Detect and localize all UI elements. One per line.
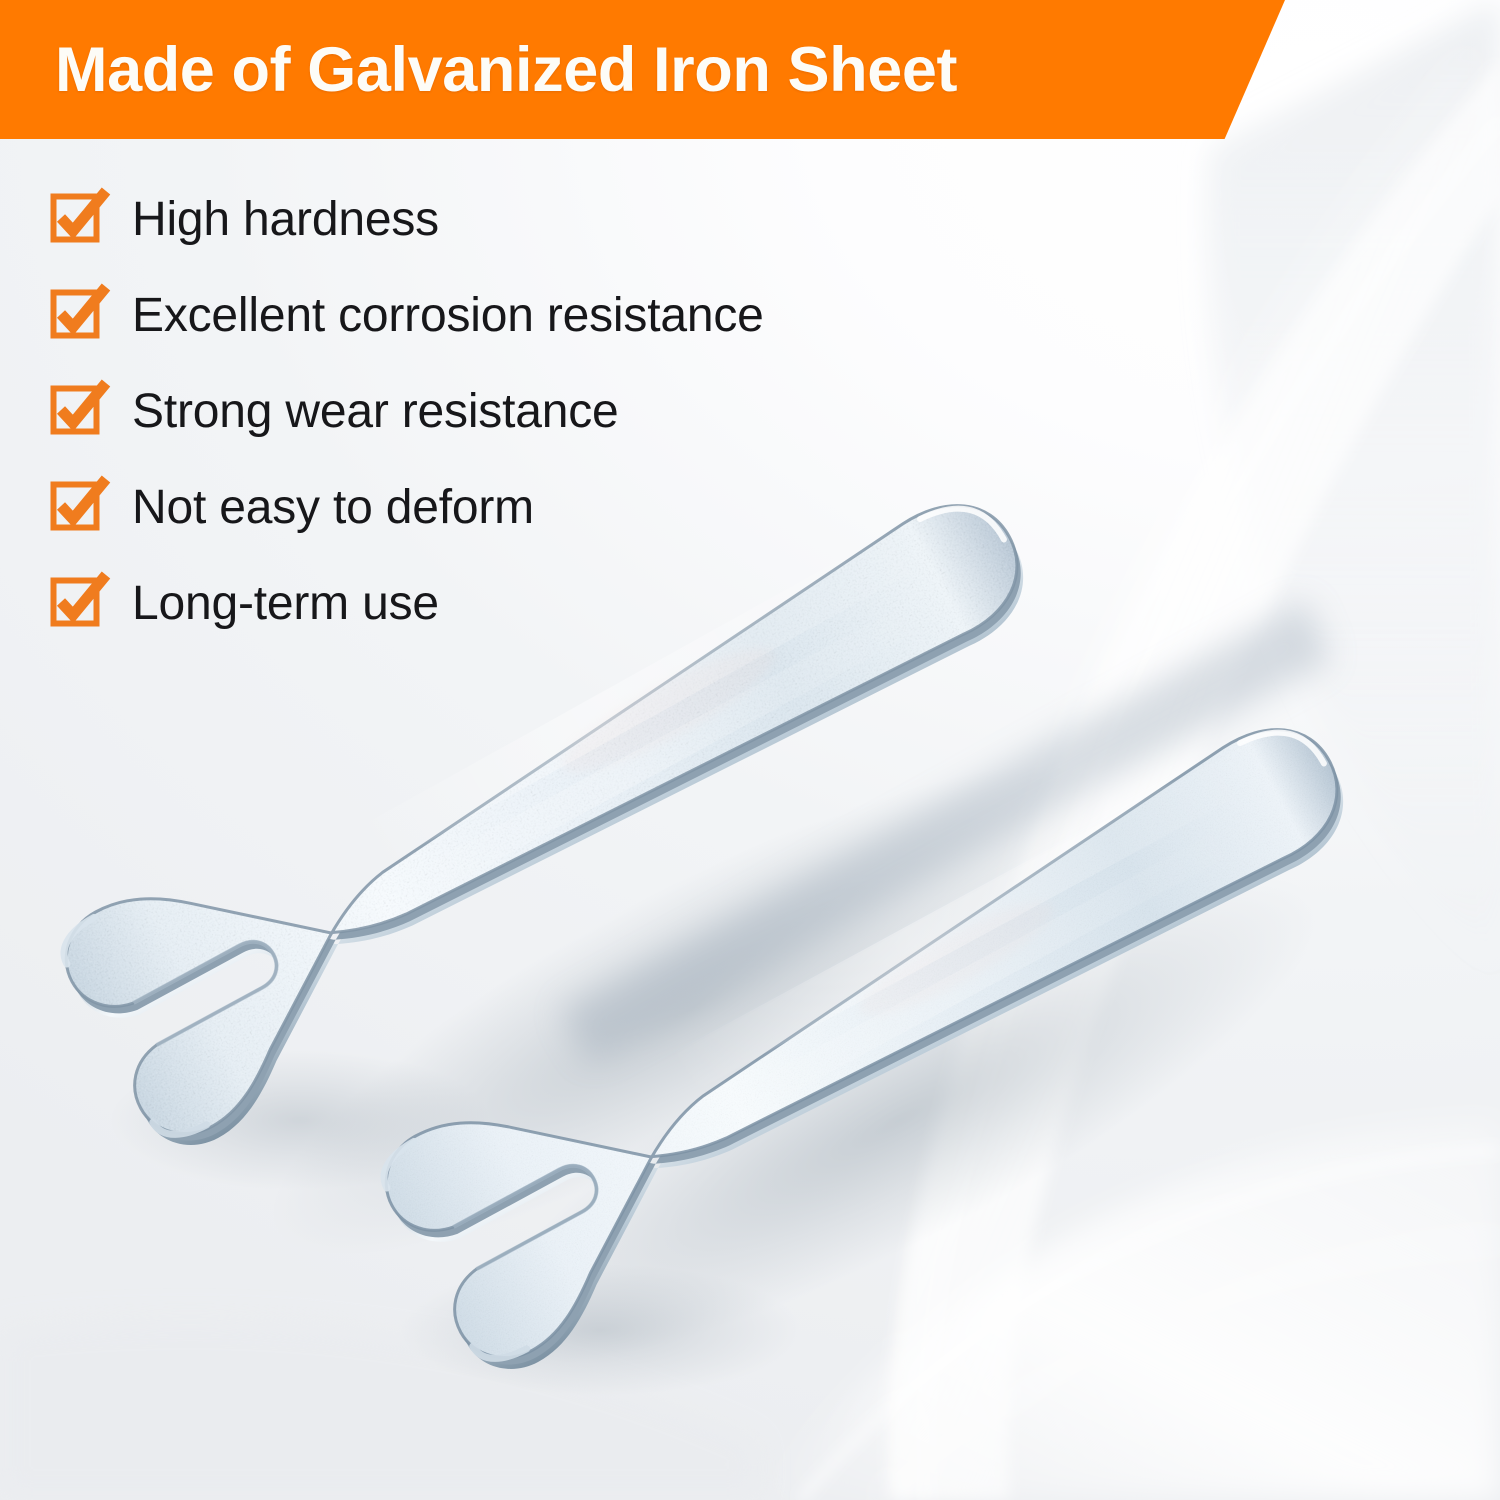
- feature-label: Excellent corrosion resistance: [132, 292, 764, 340]
- checkbox-checked-icon: [52, 193, 106, 247]
- feature-item: Long-term use: [52, 556, 1052, 652]
- feature-item: Excellent corrosion resistance: [52, 268, 1052, 364]
- checkbox-checked-icon: [52, 481, 106, 535]
- feature-list: High hardness Excellent corrosion resist…: [52, 172, 1052, 652]
- checkbox-checked-icon: [52, 289, 106, 343]
- feature-label: High hardness: [132, 196, 439, 244]
- checkbox-checked-icon: [52, 385, 106, 439]
- feature-item: Strong wear resistance: [52, 364, 1052, 460]
- feature-label: Long-term use: [132, 580, 439, 628]
- product-feature-image: Made of Galvanized Iron Sheet High hardn…: [0, 0, 1500, 1500]
- header-banner: Made of Galvanized Iron Sheet: [0, 0, 1285, 139]
- feature-item: Not easy to deform: [52, 460, 1052, 556]
- checkbox-checked-icon: [52, 577, 106, 631]
- page-title: Made of Galvanized Iron Sheet: [55, 34, 957, 106]
- feature-label: Strong wear resistance: [132, 388, 619, 436]
- feature-item: High hardness: [52, 172, 1052, 268]
- feature-label: Not easy to deform: [132, 484, 534, 532]
